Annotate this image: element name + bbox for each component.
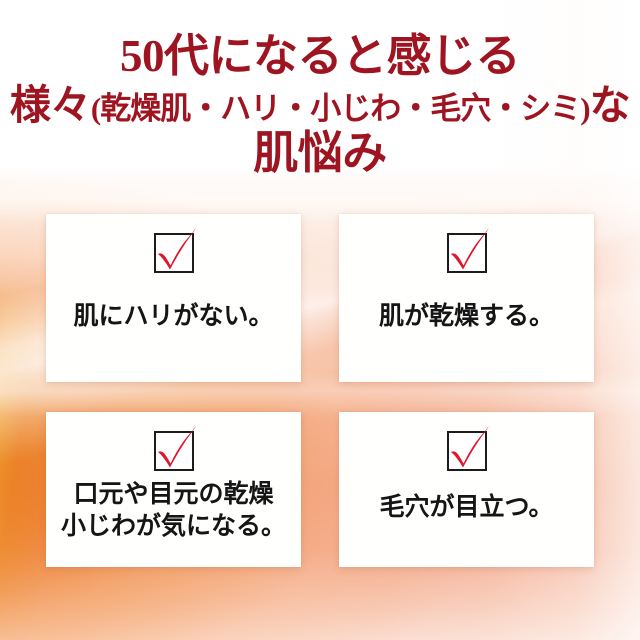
concern-card-line: 肌が乾燥する。 — [379, 301, 554, 333]
checkmark-icon — [444, 422, 496, 474]
headline-line-2: 様々(乾燥肌・ハリ・小じわ・毛穴・シミ)な — [0, 85, 640, 126]
headline-line-2-parenthetical: (乾燥肌・ハリ・小じわ・毛穴・シミ) — [91, 91, 590, 126]
concern-card-line: 口元や目元の乾燥 — [73, 479, 273, 512]
concern-card-text: 口元や目元の乾燥 小じわが気になる。 — [46, 471, 301, 567]
headline-line-2-prefix: 様々 — [10, 82, 91, 128]
checkmark-icon — [444, 224, 496, 276]
concern-card-text: 毛穴が目立つ。 — [339, 471, 594, 567]
concern-card-grid: 肌にハリがない。 肌が乾燥する。 — [46, 214, 596, 567]
checkbox[interactable] — [447, 431, 487, 471]
checkbox[interactable] — [154, 431, 194, 471]
headline-line-1: 50代になると感じる — [0, 34, 640, 79]
concern-card-line: 小じわが気になる。 — [61, 511, 286, 544]
headline-line-2-suffix: な — [590, 82, 631, 128]
concern-card[interactable]: 毛穴が目立つ。 — [339, 412, 594, 567]
checkbox[interactable] — [447, 233, 487, 273]
concern-card-line: 肌にハリがない。 — [73, 301, 273, 333]
concern-card-text: 肌にハリがない。 — [46, 273, 301, 382]
concern-card-text: 肌が乾燥する。 — [339, 273, 594, 382]
concern-card[interactable]: 口元や目元の乾燥 小じわが気になる。 — [46, 412, 301, 567]
headline-block: 50代になると感じる 様々(乾燥肌・ハリ・小じわ・毛穴・シミ)な 肌悩み — [0, 34, 640, 176]
concern-card[interactable]: 肌が乾燥する。 — [339, 214, 594, 382]
concern-card-line: 毛穴が目立つ。 — [379, 492, 553, 524]
promo-banner: 50代になると感じる 様々(乾燥肌・ハリ・小じわ・毛穴・シミ)な 肌悩み 肌にハ… — [0, 0, 640, 640]
headline-line-3: 肌悩み — [0, 131, 640, 176]
checkmark-icon — [151, 422, 203, 474]
checkmark-icon — [151, 224, 203, 276]
concern-card[interactable]: 肌にハリがない。 — [46, 214, 301, 382]
checkbox[interactable] — [154, 233, 194, 273]
